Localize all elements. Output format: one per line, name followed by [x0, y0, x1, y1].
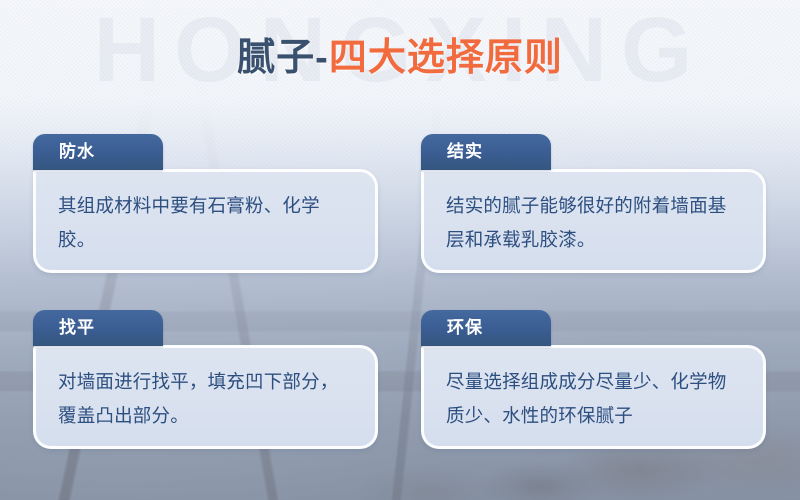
card-description: 其组成材料中要有石膏粉、化学胶。 [58, 189, 355, 257]
page-title-prefix: 腻子- [237, 37, 329, 79]
page-title: 腻子-四大选择原则 [0, 34, 800, 82]
card-tab-sturdy: 结实 [421, 134, 551, 170]
principle-card-sturdy: 结实 结实的腻子能够很好的附着墙面基层和承载乳胶漆。 [421, 134, 766, 273]
page-title-accent: 四大选择原则 [329, 37, 563, 79]
card-tab-waterproof: 防水 [33, 134, 163, 170]
principle-card-leveling: 找平 对墙面进行找平，填充凹下部分，覆盖凸出部分。 [33, 310, 378, 449]
card-body-waterproof: 其组成材料中要有石膏粉、化学胶。 [33, 169, 378, 273]
card-description: 尽量选择组成成分尽量少、化学物质少、水性的环保腻子 [446, 365, 743, 433]
card-body-eco: 尽量选择组成成分尽量少、化学物质少、水性的环保腻子 [421, 345, 766, 449]
principle-card-waterproof: 防水 其组成材料中要有石膏粉、化学胶。 [33, 134, 378, 273]
card-tab-eco: 环保 [421, 310, 551, 346]
card-description: 结实的腻子能够很好的附着墙面基层和承载乳胶漆。 [446, 189, 743, 257]
card-tab-label: 防水 [59, 143, 95, 161]
principle-card-eco: 环保 尽量选择组成成分尽量少、化学物质少、水性的环保腻子 [421, 310, 766, 449]
card-tab-leveling: 找平 [33, 310, 163, 346]
poster-canvas: HONGXING 腻子-四大选择原则 防水 其组成材料中要有石膏粉、化学胶。 结… [0, 0, 800, 500]
card-body-sturdy: 结实的腻子能够很好的附着墙面基层和承载乳胶漆。 [421, 169, 766, 273]
card-tab-label: 找平 [59, 319, 95, 337]
card-tab-label: 结实 [447, 143, 483, 161]
card-tab-label: 环保 [447, 319, 483, 337]
card-description: 对墙面进行找平，填充凹下部分，覆盖凸出部分。 [58, 365, 355, 433]
card-body-leveling: 对墙面进行找平，填充凹下部分，覆盖凸出部分。 [33, 345, 378, 449]
